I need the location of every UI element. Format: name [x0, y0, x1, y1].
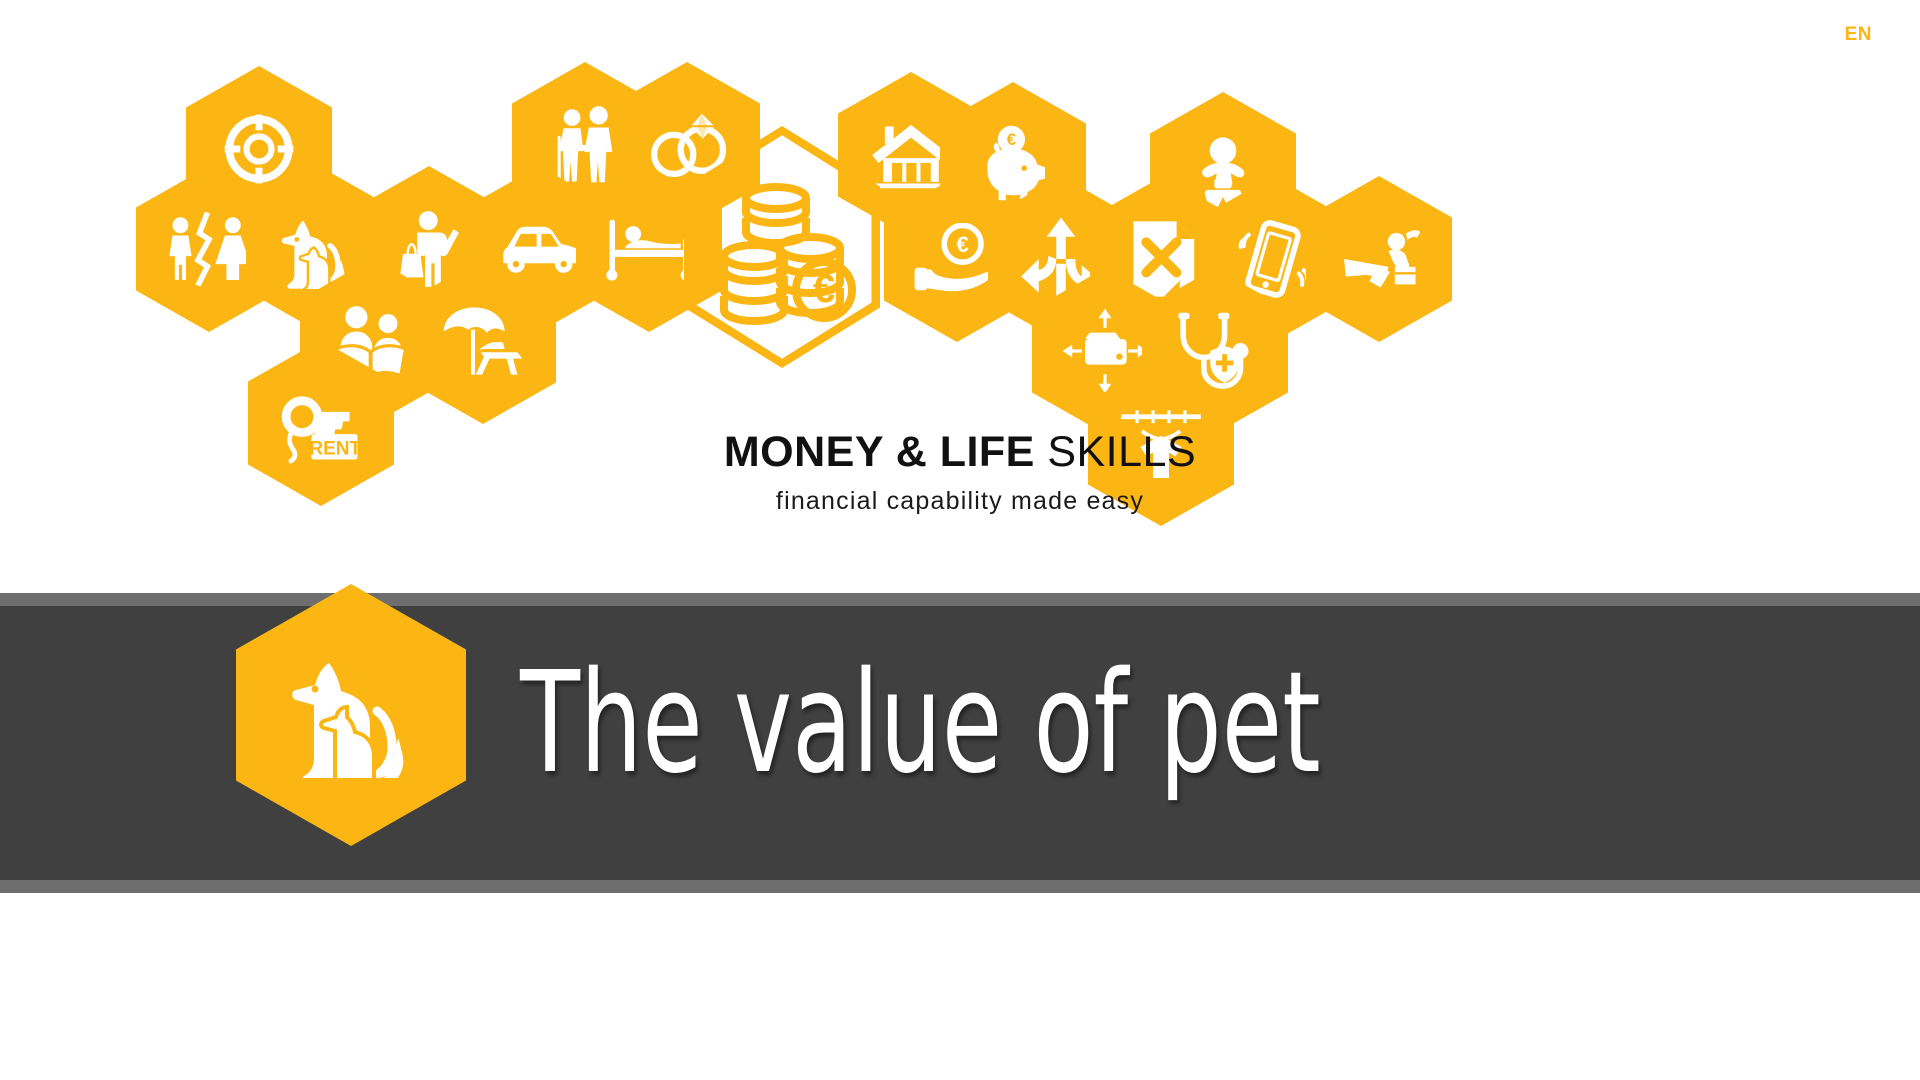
life-ring-icon	[220, 110, 298, 188]
footer: Erasmus+ The European Commission support…	[0, 906, 1920, 1080]
brand-title: MONEY & LIFE SKILLS	[0, 430, 1920, 475]
hand-euro-coin-icon: €	[913, 223, 1001, 295]
page-title-bar: The value of pet	[0, 593, 1920, 893]
car-icon	[492, 218, 586, 280]
svg-text:€: €	[956, 232, 969, 257]
pets-hexagon-icon	[281, 653, 421, 778]
header-banner: EN	[0, 0, 1920, 593]
page-title: The value of pet	[520, 654, 1321, 794]
brand-lockup: MONEY & LIFE SKILLS financial capability…	[0, 430, 1920, 516]
job-loss-icon	[1333, 224, 1425, 294]
brand-tagline: financial capability made easy	[0, 487, 1920, 516]
hex-job-loss	[1306, 176, 1452, 342]
brand-title-regular: SKILLS	[1047, 428, 1196, 476]
brand-title-bold: MONEY & LIFE	[724, 428, 1035, 476]
elderly-couple-icon	[547, 105, 623, 185]
beach-umbrella-icon	[439, 301, 527, 381]
svg-text:€: €	[813, 267, 835, 311]
page-topic-hexagon	[236, 584, 466, 846]
hospital-bed-icon	[601, 215, 697, 283]
svg-text:€: €	[1007, 130, 1017, 149]
divorce-icon	[163, 212, 255, 286]
